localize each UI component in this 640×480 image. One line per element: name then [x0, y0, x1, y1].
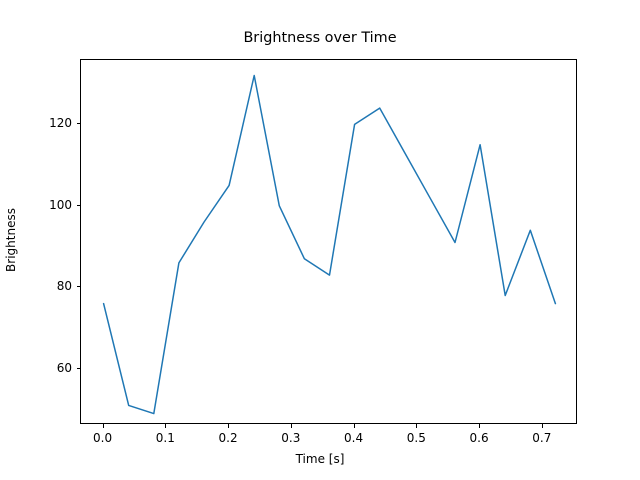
x-tick-mark [542, 424, 543, 428]
x-tick-label: 0.3 [281, 431, 300, 445]
x-axis-tick-labels: 0.00.10.20.30.40.50.60.7 [0, 431, 640, 451]
x-axis-label: Time [s] [0, 452, 640, 466]
y-tick-label: 80 [57, 279, 72, 293]
plot-area [80, 59, 577, 424]
x-tick-mark [479, 424, 480, 428]
x-tick-mark [103, 424, 104, 428]
y-tick-mark [77, 368, 81, 369]
x-tick-mark [228, 424, 229, 428]
x-tick-label: 0.1 [156, 431, 175, 445]
chart-figure: Brightness over Time Brightness 60801001… [0, 0, 640, 480]
y-axis-tick-labels: 6080100120 [0, 0, 72, 480]
y-tick-mark [77, 205, 81, 206]
y-tick-label: 100 [49, 198, 72, 212]
y-tick-label: 120 [49, 116, 72, 130]
y-tick-mark [77, 123, 81, 124]
x-tick-label: 0.7 [532, 431, 551, 445]
y-tick-label: 60 [57, 361, 72, 375]
y-tick-mark [77, 286, 81, 287]
x-tick-mark [354, 424, 355, 428]
brightness-line [104, 75, 556, 413]
x-tick-mark [416, 424, 417, 428]
x-tick-label: 0.4 [344, 431, 363, 445]
x-tick-label: 0.5 [407, 431, 426, 445]
chart-title: Brightness over Time [0, 30, 640, 47]
x-tick-mark [165, 424, 166, 428]
line-series-svg [81, 60, 578, 425]
x-tick-mark [291, 424, 292, 428]
x-tick-label: 0.2 [219, 431, 238, 445]
x-tick-label: 0.6 [470, 431, 489, 445]
x-tick-label: 0.0 [93, 431, 112, 445]
